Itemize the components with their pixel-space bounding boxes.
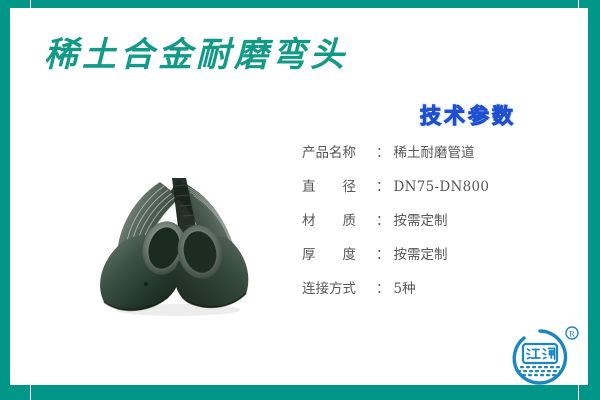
frame-border-right bbox=[588, 0, 600, 400]
spec-colon: ： bbox=[376, 209, 390, 229]
spec-value-material: 按需定制 bbox=[394, 209, 448, 229]
jianghe-logo-icon: R bbox=[498, 325, 582, 387]
product-photo bbox=[60, 160, 300, 320]
frame-notch-bottom-left bbox=[30, 385, 31, 400]
spec-colon: ： bbox=[376, 141, 390, 161]
tech-params-heading: 技术参数 bbox=[292, 104, 582, 127]
frame-border-bottom bbox=[0, 385, 600, 400]
brand-logo: R bbox=[498, 325, 582, 387]
registered-mark-icon: R bbox=[566, 327, 578, 339]
spec-row-material: 材 质 ： 按需定制 bbox=[302, 209, 582, 229]
page-title: 稀土合金耐磨弯头 bbox=[44, 38, 348, 72]
spec-value-product-name: 稀土耐磨管道 bbox=[394, 141, 475, 161]
elbow-pipes-illustration bbox=[60, 160, 300, 320]
spec-value-connection-type: 5种 bbox=[394, 277, 416, 297]
spec-row-thickness: 厚 度 ： 按需定制 bbox=[302, 243, 582, 263]
frame-notch-top-left bbox=[30, 0, 31, 8]
frame-notch-bottom-right bbox=[578, 385, 579, 400]
spec-colon: ： bbox=[376, 243, 390, 263]
svg-text:R: R bbox=[569, 329, 575, 339]
frame-border-left bbox=[0, 0, 10, 400]
tech-params-list: 产品名称 ： 稀土耐磨管道 直 径 ： DN75-DN800 材 质 ： 按需定… bbox=[292, 141, 582, 297]
spec-colon: ： bbox=[376, 175, 390, 195]
spec-label-diameter: 直 径 bbox=[302, 175, 376, 195]
wave-band bbox=[517, 366, 563, 376]
spec-row-product-name: 产品名称 ： 稀土耐磨管道 bbox=[302, 141, 582, 161]
spec-label-product-name: 产品名称 bbox=[302, 141, 376, 161]
spec-label-thickness: 厚 度 bbox=[302, 243, 376, 263]
spec-value-thickness: 按需定制 bbox=[394, 243, 448, 263]
spec-colon: ： bbox=[376, 277, 390, 297]
spec-label-material: 材 质 bbox=[302, 209, 376, 229]
tech-params-panel: 技术参数 产品名称 ： 稀土耐磨管道 直 径 ： DN75-DN800 材 质 … bbox=[292, 104, 582, 311]
spec-value-diameter: DN75-DN800 bbox=[394, 179, 490, 195]
frame-border-top bbox=[0, 0, 600, 8]
spec-label-connection-type: 连接方式 bbox=[302, 277, 376, 297]
spec-row-diameter: 直 径 ： DN75-DN800 bbox=[302, 175, 582, 195]
product-poster: 稀土合金耐磨弯头 bbox=[0, 0, 600, 400]
spec-row-connection-type: 连接方式 ： 5种 bbox=[302, 277, 582, 297]
frame-notch-top-right bbox=[578, 0, 579, 8]
